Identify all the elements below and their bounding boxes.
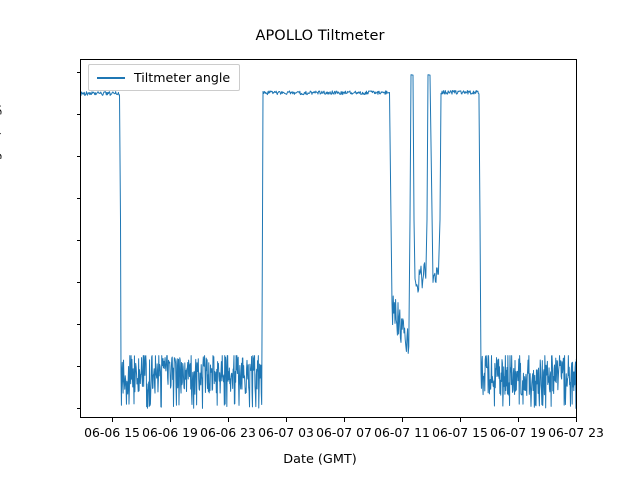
y-tick-mark bbox=[77, 240, 81, 241]
legend-line-swatch bbox=[97, 77, 125, 79]
legend: Tiltmeter angle bbox=[88, 64, 240, 91]
y-tick-mark bbox=[77, 114, 81, 115]
x-tick-label: 06-06 19 bbox=[142, 425, 198, 440]
x-tick-label: 06-07 23 bbox=[548, 425, 604, 440]
y-tick-mark bbox=[77, 324, 81, 325]
plot-area bbox=[80, 59, 577, 418]
x-tick-label: 06-07 07 bbox=[316, 425, 372, 440]
x-tick-label: 06-07 19 bbox=[490, 425, 546, 440]
y-tick-mark bbox=[77, 282, 81, 283]
x-tick-label: 06-06 15 bbox=[84, 425, 140, 440]
x-tick-label: 06-07 03 bbox=[258, 425, 314, 440]
y-tick-mark bbox=[77, 366, 81, 367]
y-axis-label: Angle (deg) bbox=[0, 40, 3, 240]
x-tick-mark bbox=[460, 418, 461, 422]
y-tick-mark bbox=[77, 198, 81, 199]
plot-clip-region bbox=[81, 60, 576, 417]
x-tick-mark bbox=[402, 418, 403, 422]
y-tick-mark bbox=[77, 156, 81, 157]
tiltmeter-angle-series bbox=[81, 60, 576, 417]
x-tick-mark bbox=[344, 418, 345, 422]
x-tick-mark bbox=[518, 418, 519, 422]
x-tick-label: 06-07 15 bbox=[432, 425, 488, 440]
y-tick-mark bbox=[77, 408, 81, 409]
y-tick-mark bbox=[77, 72, 81, 73]
x-tick-mark bbox=[286, 418, 287, 422]
x-tick-label: 06-07 11 bbox=[374, 425, 430, 440]
x-tick-mark bbox=[228, 418, 229, 422]
x-axis-label: Date (GMT) bbox=[0, 452, 640, 467]
legend-label: Tiltmeter angle bbox=[134, 70, 230, 85]
matplotlib-figure: APOLLO Tiltmeter Angle (deg) Date (GMT) … bbox=[0, 0, 640, 480]
x-tick-mark bbox=[576, 418, 577, 422]
x-tick-mark bbox=[112, 418, 113, 422]
chart-title: APOLLO Tiltmeter bbox=[0, 28, 640, 44]
x-tick-mark bbox=[170, 418, 171, 422]
x-tick-label: 06-06 23 bbox=[200, 425, 256, 440]
